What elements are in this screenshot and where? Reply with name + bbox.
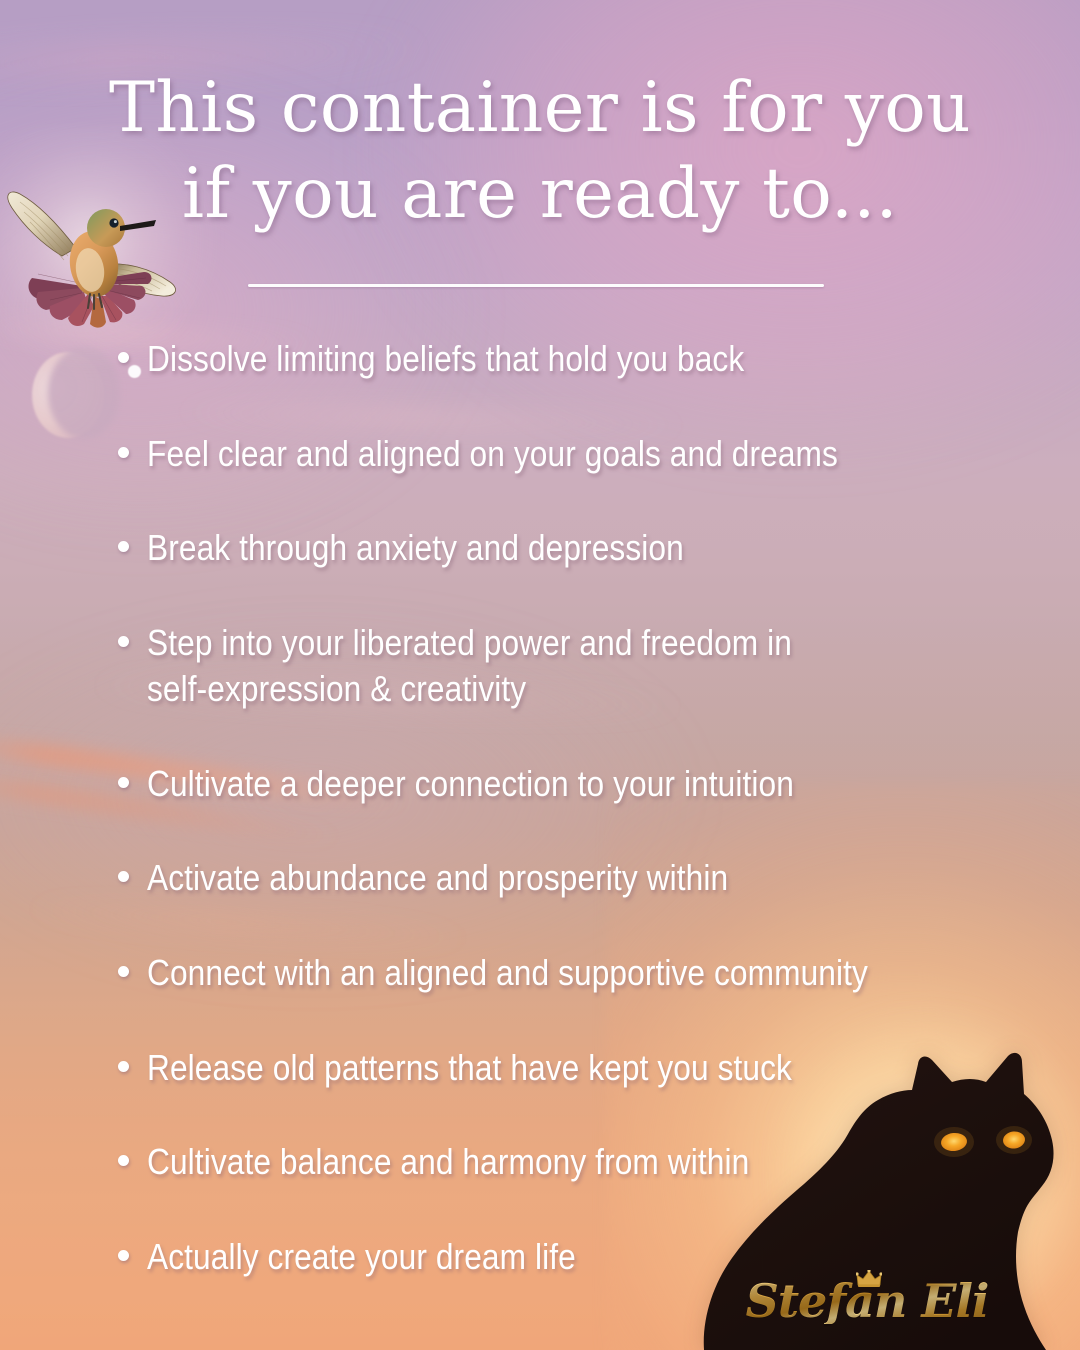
title-line-1: This container is for you <box>64 62 1016 154</box>
bullet-dot-icon <box>118 871 129 882</box>
bullet-dot-icon <box>118 966 129 977</box>
bullet-dot-icon <box>118 541 129 552</box>
list-item-label: Release old patterns that have kept you … <box>147 1045 915 1091</box>
list-item-label: Dissolve limiting beliefs that hold you … <box>147 336 915 382</box>
bullet-dot-icon <box>118 1250 129 1261</box>
list-item-label: Feel clear and aligned on your goals and… <box>147 431 915 477</box>
bullet-dot-icon <box>118 352 129 363</box>
bullet-dot-icon <box>118 1061 129 1072</box>
list-item: Activate abundance and prosperity within <box>118 855 1020 901</box>
list-item-label: Cultivate a deeper connection to your in… <box>147 761 915 807</box>
list-item: Actually create your dream life <box>118 1234 1020 1280</box>
list-item: Cultivate balance and harmony from withi… <box>118 1139 1020 1185</box>
bullet-dot-icon <box>118 777 129 788</box>
list-item-label: Connect with an aligned and supportive c… <box>147 950 915 996</box>
title-line-2: if you are ready to... <box>64 148 1016 240</box>
benefits-list: Dissolve limiting beliefs that hold you … <box>118 336 1020 1280</box>
list-item: Cultivate a deeper connection to your in… <box>118 761 1020 807</box>
bullet-dot-icon <box>118 636 129 647</box>
list-item-label: Step into your liberated power and freed… <box>147 620 915 711</box>
list-item: Release old patterns that have kept you … <box>118 1045 1020 1091</box>
list-item-label: Activate abundance and prosperity within <box>147 855 915 901</box>
list-item-label: Break through anxiety and depression <box>147 525 915 571</box>
list-item: Dissolve limiting beliefs that hold you … <box>118 336 1020 382</box>
page-title: This container is for you if you are rea… <box>0 62 1080 241</box>
list-item-label: Cultivate balance and harmony from withi… <box>147 1139 915 1185</box>
list-item: Break through anxiety and depression <box>118 525 1020 571</box>
list-item-label: Actually create your dream life <box>147 1234 915 1280</box>
list-item: Step into your liberated power and freed… <box>118 620 1020 711</box>
bullet-dot-icon <box>118 447 129 458</box>
title-divider <box>248 284 824 287</box>
poster-canvas: Stefan Eli This container is for you if … <box>0 0 1080 1350</box>
bullet-dot-icon <box>118 1155 129 1166</box>
list-item: Connect with an aligned and supportive c… <box>118 950 1020 996</box>
list-item: Feel clear and aligned on your goals and… <box>118 431 1020 477</box>
